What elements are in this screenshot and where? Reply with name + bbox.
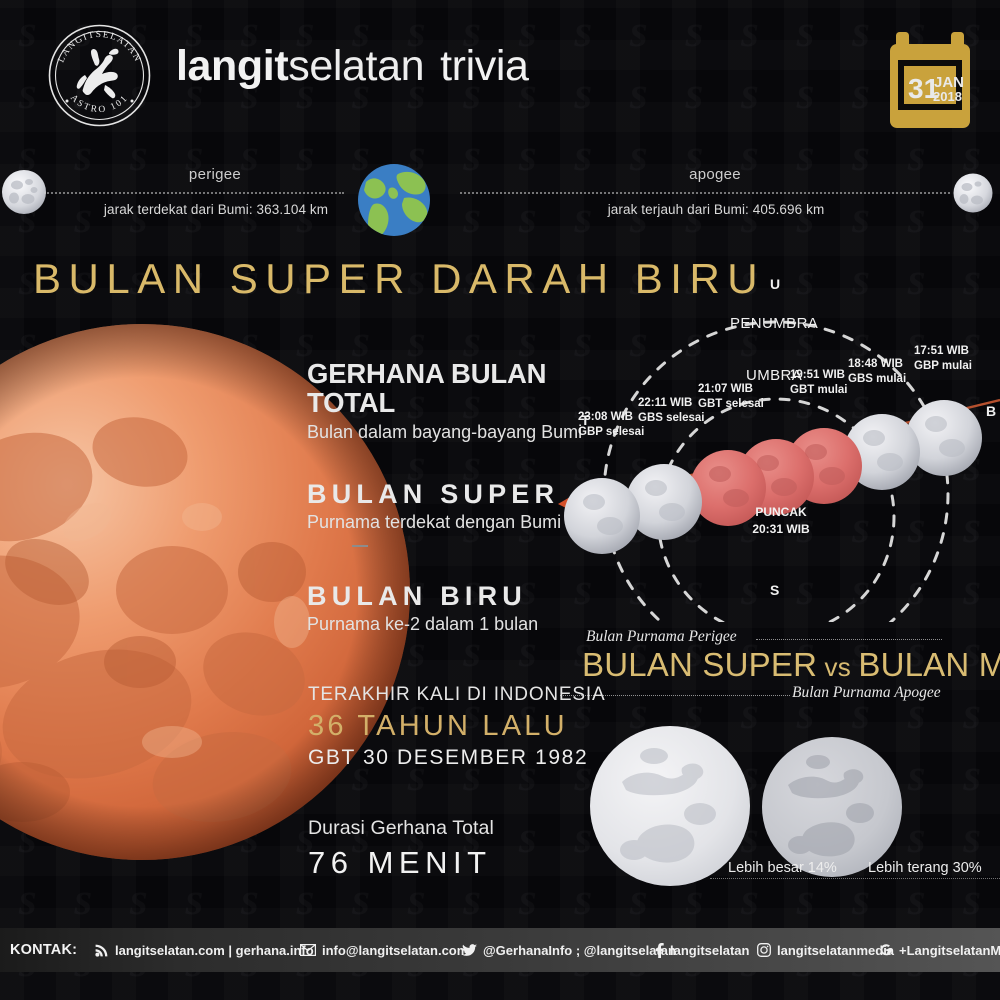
footer-facebook[interactable]: langitselatan (655, 928, 749, 972)
envelope-icon (300, 944, 316, 956)
orbit-dotted-line-left (44, 192, 344, 194)
calendar-date-badge: 31 JAN 2018 (884, 30, 976, 134)
footer-googleplus[interactable]: +LangitselatanMedia (880, 928, 1000, 972)
compare-title: BULAN SUPER vs BULAN MINI (582, 646, 1000, 684)
fact-item-bulan-super: BULAN SUPER Purnama terdekat dengan Bumi (307, 480, 561, 534)
brand-title: langitselatantrivia (176, 42, 529, 91)
phase-stamp-gbs-mulai: 18:48 WIB GBS mulai (848, 357, 906, 387)
phase-event: GBP mulai (914, 359, 972, 374)
caption-brightness-difference: Lebih terang 30% (868, 860, 982, 876)
footer-instagram-text: langitselatanmedia (777, 943, 894, 958)
phase-event: GBS selesai (638, 411, 704, 426)
footer-twitter[interactable]: @GerhanaInfo ; @langitselatan (462, 928, 676, 972)
supermoon-vs-minimoon-section: Bulan Purnama Perigee BULAN SUPER vs BUL… (560, 628, 1000, 908)
compare-kicker-perigee: Bulan Purnama Perigee (586, 628, 737, 646)
header: LANGITSELATAN ASTRO 101 langitselatantri… (0, 0, 1000, 150)
compare-title-left: BULAN SUPER (582, 646, 817, 683)
phase-time: 23:08 WIB (578, 410, 644, 425)
compare-title-right: BULAN MINI (858, 646, 1000, 683)
phase-event: GBT selesai (698, 397, 764, 412)
divider-dash (352, 545, 368, 547)
footer-instagram[interactable]: langitselatanmedia (757, 928, 894, 972)
phase-stamp-gbp-mulai: 17:51 WIB GBP mulai (914, 344, 972, 374)
phase-event: GBT mulai (790, 383, 848, 398)
eclipse-peak: PUNCAK 20:31 WIB (736, 504, 826, 539)
fact-item-bulan-biru: BULAN BIRU Purnama ke-2 dalam 1 bulan (307, 582, 538, 636)
perigee-label: perigee (100, 166, 330, 183)
phase-time: 22:11 WIB (638, 396, 704, 411)
apogee-distance: jarak terjauh dari Bumi: 405.696 km (556, 202, 876, 217)
compare-title-vs: vs (817, 652, 858, 682)
phase-time: 19:51 WIB (790, 368, 848, 383)
cardinal-south: S (770, 582, 779, 598)
compare-rule-top (756, 639, 942, 640)
penumbra-label: PENUMBRA (730, 315, 818, 332)
twitter-icon (462, 944, 477, 957)
brand-light: selatan (288, 42, 424, 90)
orbit-dotted-line-right (460, 192, 950, 194)
phase-time: 21:07 WIB (698, 382, 764, 397)
fact-subtitle: Purnama ke-2 dalam 1 bulan (307, 613, 538, 636)
calendar-year: 2018 (933, 89, 962, 104)
phase-stamp-gbt-selesai: 21:07 WIB GBT selesai (698, 382, 764, 412)
compare-rule-caption (710, 878, 1000, 879)
phase-time: 17:51 WIB (914, 344, 972, 359)
cardinal-east: B (986, 403, 996, 419)
fact-subtitle: Purnama terdekat dengan Bumi (307, 511, 561, 534)
brand-bold: langit (176, 42, 288, 90)
instagram-icon (757, 943, 771, 957)
fact-title: BULAN BIRU (307, 582, 538, 610)
footer-twitter-text: @GerhanaInfo ; @langitselatan (483, 943, 676, 958)
compare-rule-bottom-left (560, 695, 790, 696)
logo-horse-rider-icon (77, 49, 119, 99)
caption-size-difference: Lebih besar 14% (728, 860, 837, 876)
cardinal-north: U (770, 276, 780, 292)
perigee-distance: jarak terdekat dari Bumi: 363.104 km (56, 202, 376, 217)
duration-label: Durasi Gerhana Total (308, 817, 494, 840)
footer-email[interactable]: info@langitselatan.com (300, 928, 468, 972)
phase-event: GBP selesai (578, 425, 644, 440)
google-plus-icon (880, 943, 893, 957)
svg-text:ASTRO 101: ASTRO 101 (68, 93, 131, 115)
langitselatan-logo-icon: LANGITSELATAN ASTRO 101 (47, 23, 152, 128)
phase-stamp-gbp-selesai: 23:08 WIB GBP selesai (578, 410, 644, 440)
compare-kicker-apogee: Bulan Purnama Apogee (792, 684, 941, 702)
footer-email-text: info@langitselatan.com (322, 943, 468, 958)
duration-value: 76 MENIT (308, 845, 494, 881)
apogee-label: apogee (600, 166, 830, 183)
peak-time: 20:31 WIB (736, 521, 826, 538)
footer-googleplus-text: +LangitselatanMedia (899, 943, 1000, 958)
phase-event: GBS mulai (848, 372, 906, 387)
logo-ring-bottom-text: ASTRO 101 (68, 93, 131, 115)
peak-label: PUNCAK (736, 504, 826, 521)
fact-title: BULAN SUPER (307, 480, 561, 508)
facebook-icon (655, 943, 664, 958)
rss-icon (95, 943, 109, 957)
duration-block: Durasi Gerhana Total 76 MENIT (308, 817, 494, 881)
phase-stamp-gbs-selesai: 22:11 WIB GBS selesai (638, 396, 704, 426)
footer-kontak-label: KONTAK: (10, 928, 88, 972)
brand-word-trivia: trivia (440, 42, 528, 90)
footer-website[interactable]: langitselatan.com | gerhana.info (95, 928, 314, 972)
footer-facebook-text: langitselatan (670, 943, 749, 958)
phase-time: 18:48 WIB (848, 357, 906, 372)
eclipse-path-diagram: U S T B PENUMBRA UMBRA 23:08 WIB GBP sel… (548, 272, 1000, 622)
orbit-distance-band: perigee jarak terdekat dari Bumi: 363.10… (0, 150, 1000, 250)
phase-stamp-gbt-mulai: 19:51 WIB GBT mulai (790, 368, 848, 398)
footer-website-text: langitselatan.com | gerhana.info (115, 943, 314, 958)
minimoon-disc (760, 735, 904, 879)
